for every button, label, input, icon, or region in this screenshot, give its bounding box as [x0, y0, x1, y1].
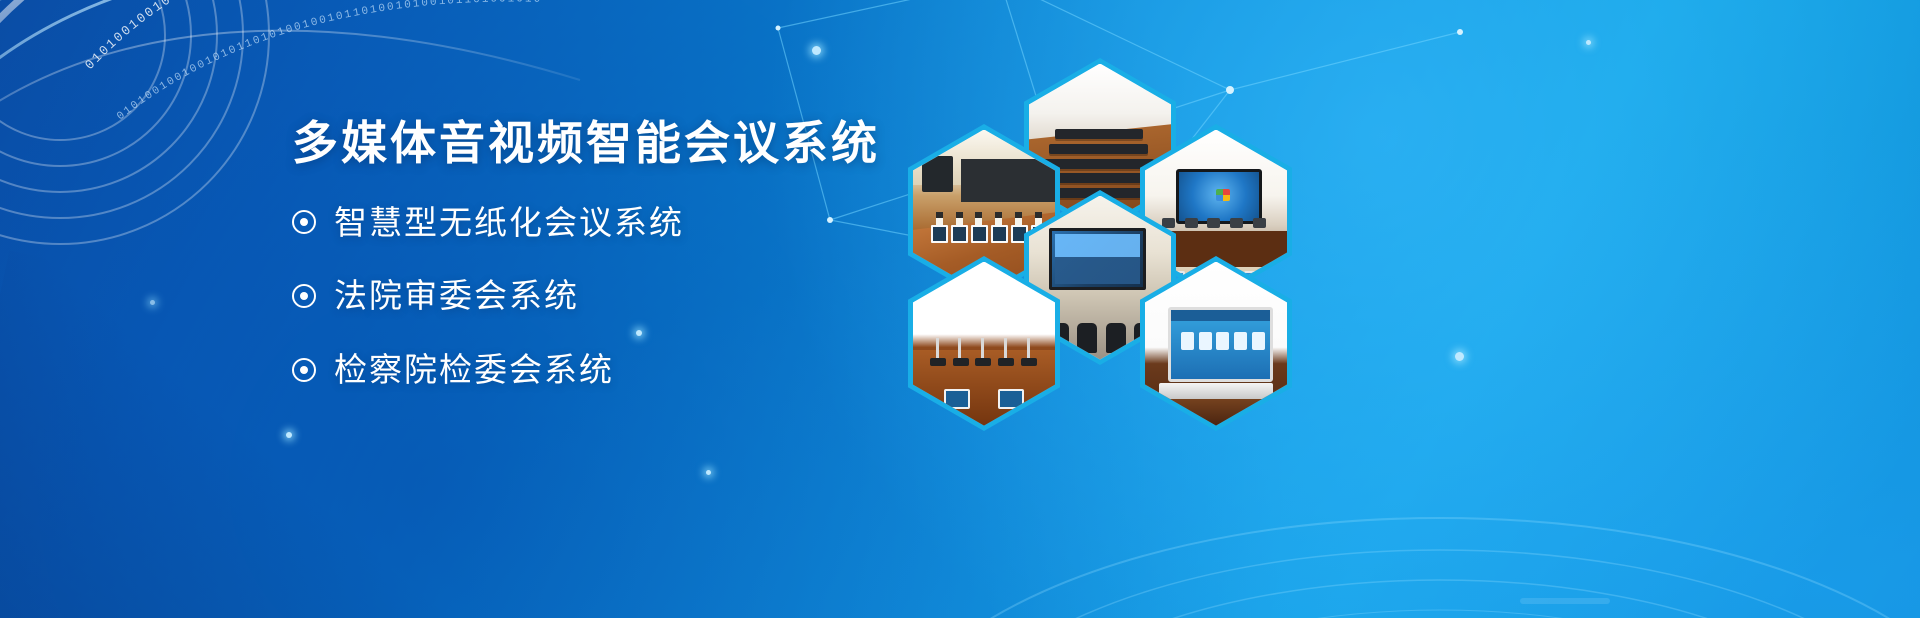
banner-hero: 0101001001001010110101001001011010010100…: [0, 0, 1920, 618]
list-item: 检察院检委会系统: [292, 350, 932, 390]
svg-text:010100100100101011010100100101: 0101001001001010110101001001011010010100…: [115, 0, 542, 123]
hero-text-block: 多媒体音视频智能会议系统 智慧型无纸化会议系统 法院审委会系统 检察院检委会系统: [292, 118, 932, 389]
concentric-rings-icon: [0, 0, 270, 245]
list-item-label: 检察院检委会系统: [334, 350, 614, 390]
particle-dot: [1586, 40, 1591, 45]
circled-dot-bullet-icon: [292, 284, 316, 308]
circled-dot-bullet-icon: [292, 358, 316, 382]
binary-text: 0101001001001010110101001001011010010100…: [82, 0, 559, 73]
particle-dot: [150, 300, 155, 305]
binary-text-secondary: 0101001001001010110101001001011010010100…: [115, 0, 542, 123]
list-item-label: 法院审委会系统: [334, 276, 579, 316]
feature-list: 智慧型无纸化会议系统 法院审委会系统 检察院检委会系统: [292, 203, 932, 390]
list-item: 法院审委会系统: [292, 276, 932, 316]
particle-dot: [286, 432, 292, 438]
list-item: 智慧型无纸化会议系统: [292, 203, 932, 243]
particle-dot: [812, 46, 821, 55]
page-title: 多媒体音视频智能会议系统: [292, 118, 932, 169]
list-item-label: 智慧型无纸化会议系统: [334, 203, 684, 243]
svg-text:010100100100101011010100100101: 0101001001001010110101001001011010010100…: [82, 0, 559, 73]
particle-dot: [1455, 352, 1464, 361]
circled-dot-bullet-icon: [292, 210, 316, 234]
hexagon-photo-cluster: [900, 58, 1300, 408]
particle-dot: [706, 470, 711, 475]
